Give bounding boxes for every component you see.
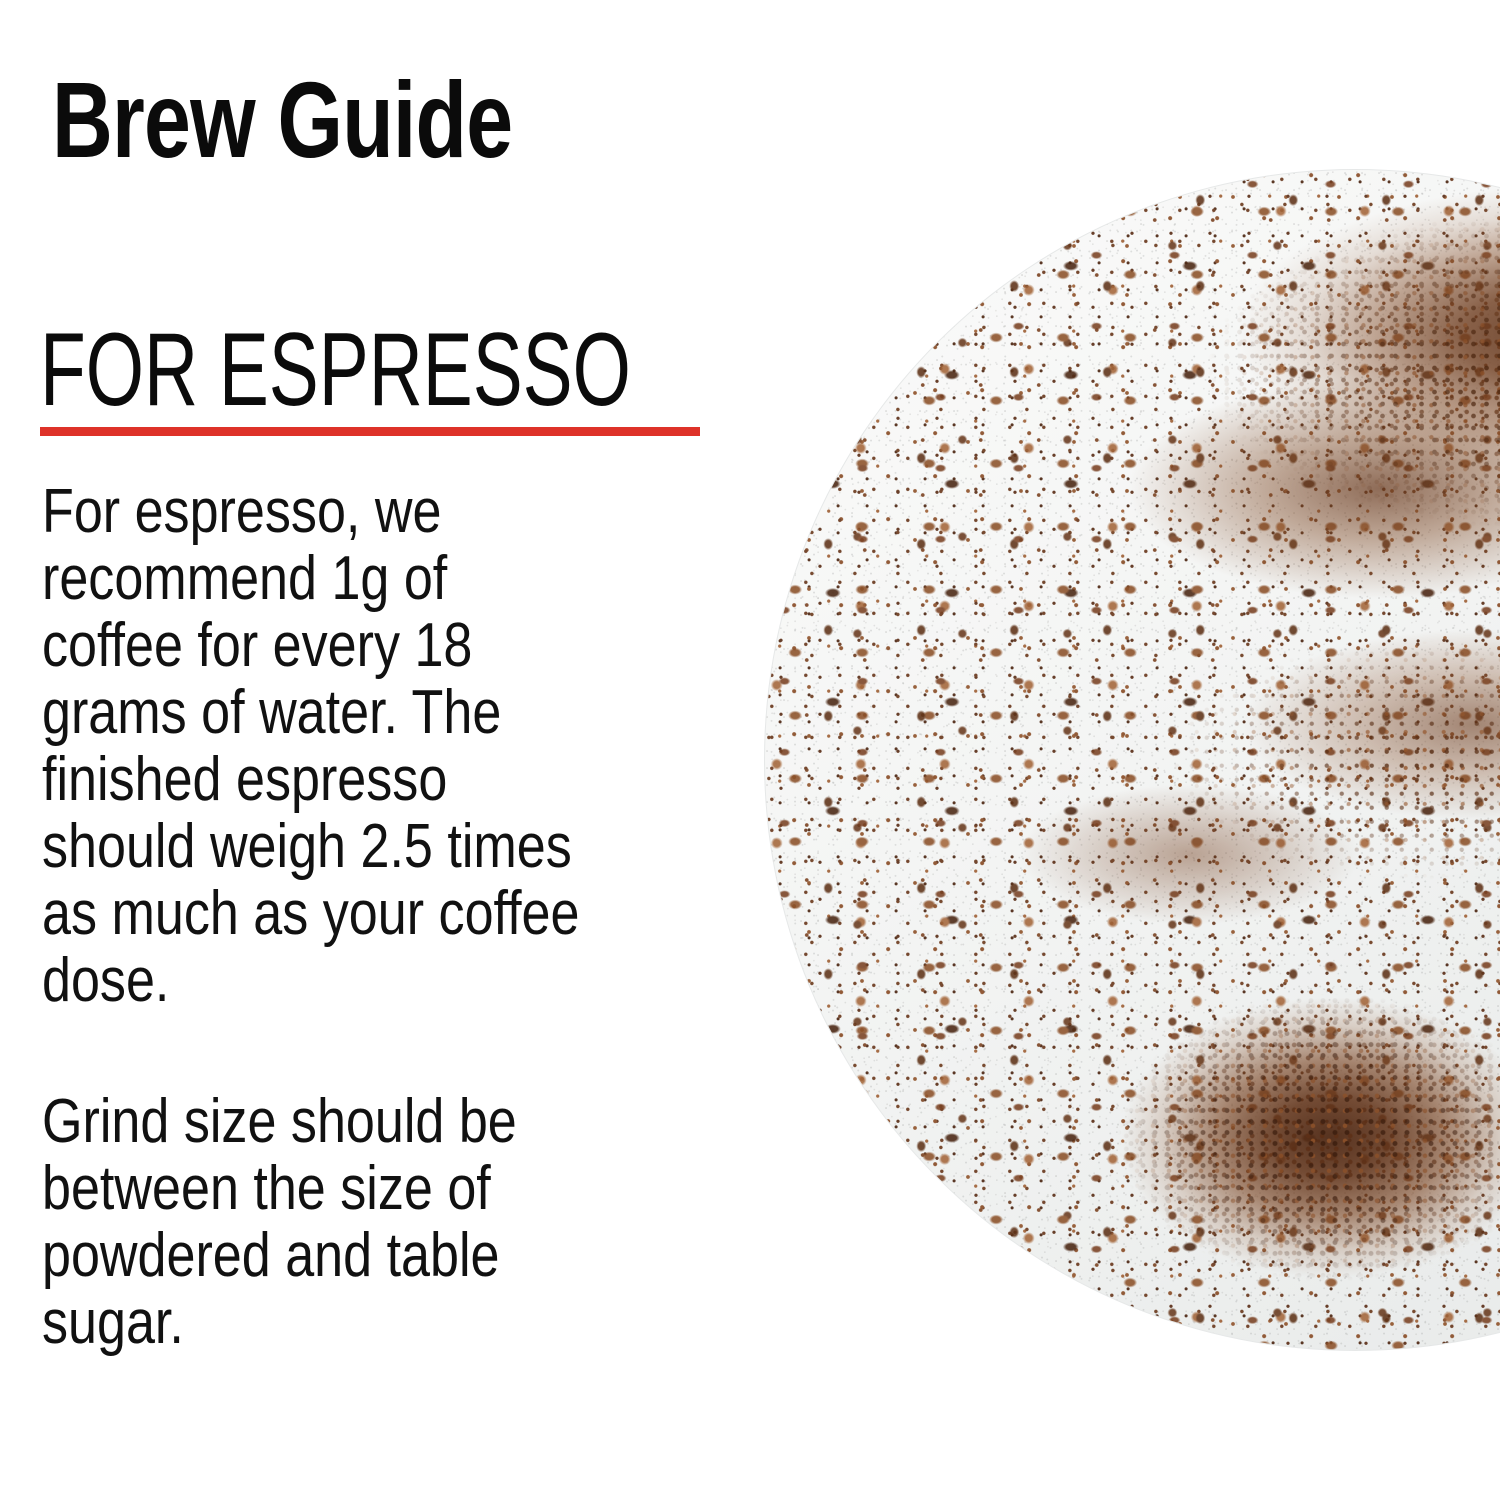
coffee-grounds-photo — [700, 0, 1500, 1500]
ceramic-plate — [765, 170, 1500, 1350]
brew-guide-page: Brew Guide FOR ESPRESSO For espresso, we… — [0, 0, 1500, 1500]
grind-size-paragraph: Grind size should be between the size of… — [42, 1088, 580, 1356]
page-title: Brew Guide — [52, 66, 512, 174]
red-divider-rule — [40, 427, 752, 436]
section-subhead: FOR ESPRESSO — [40, 318, 631, 422]
text-column: Brew Guide FOR ESPRESSO For espresso, we… — [0, 0, 760, 1500]
plate-speckle-texture — [765, 170, 1500, 1350]
espresso-ratio-paragraph: For espresso, we recommend 1g of coffee … — [42, 478, 580, 1014]
